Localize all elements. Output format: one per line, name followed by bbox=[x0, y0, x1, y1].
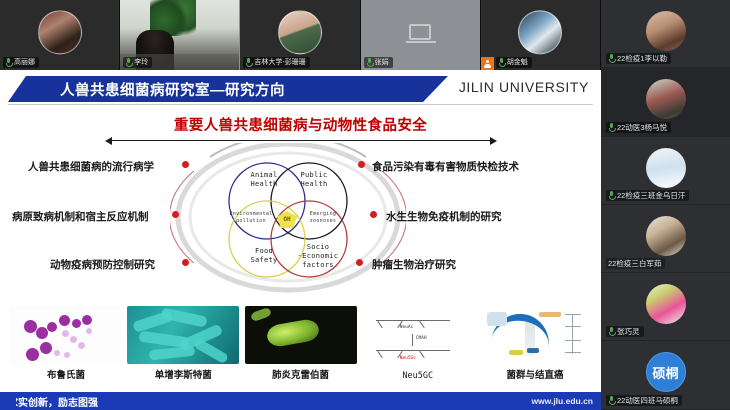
thumbnail-caption: Neu5GC bbox=[362, 371, 474, 381]
camera-off-icon bbox=[409, 24, 431, 40]
participant-name: 22检疫三白军茹 bbox=[608, 259, 661, 268]
participant-rail-item[interactable]: 张巧灵 bbox=[601, 273, 730, 341]
participant-rail-item[interactable]: 硕桐 22动医四班马硕桐 bbox=[601, 341, 730, 409]
video-tile-active-speaker[interactable]: 李玲 bbox=[120, 0, 240, 70]
participant-rail-item[interactable]: 22检疫三班金乌日汗 bbox=[601, 137, 730, 205]
avatar-initials-text: 硕桐 bbox=[652, 363, 678, 382]
slide-footer: 求实创新，励志图强 www.jlu.edu.cn bbox=[0, 392, 601, 410]
participant-name: 胡金魁 bbox=[507, 58, 528, 67]
participant-name: 高丽娜 bbox=[14, 58, 35, 67]
thumbnail-caption: 单增李斯特菌 bbox=[127, 367, 239, 381]
participant-name: 22动医四班马硕桐 bbox=[617, 396, 678, 405]
avatar-initials: 硕桐 bbox=[646, 352, 686, 392]
direction-label-right-1: 食品污染有毒有害物质快检技术 bbox=[372, 159, 519, 174]
direction-label-left-3: 动物疫病预防控制研究 bbox=[50, 257, 155, 272]
avatar bbox=[646, 79, 686, 119]
microphone-icon bbox=[608, 327, 615, 336]
avatar bbox=[278, 10, 322, 54]
name-badge: 22检疫1李以勒 bbox=[606, 53, 671, 64]
slide-title: 人兽共患细菌病研究室—研究方向 bbox=[60, 79, 285, 100]
video-tile-sharing[interactable]: 胡金魁 bbox=[481, 0, 601, 70]
microphone-icon bbox=[608, 123, 615, 132]
thumbnail-cell: 布鲁氏菌 bbox=[10, 306, 122, 381]
video-tile-strip: 高丽娜 李玲 吉林大学-彭珊珊 张娟 bbox=[0, 0, 601, 70]
name-badge: 22检疫三班金乌日汗 bbox=[606, 190, 689, 201]
slide-header: 人兽共患细菌病研究室—研究方向 JILIN UNIVERSITY bbox=[8, 76, 593, 110]
microphone-icon bbox=[125, 58, 132, 67]
direction-dot-left-1 bbox=[182, 161, 189, 168]
rule-bar bbox=[111, 140, 491, 141]
name-badge: 吉林大学-彭珊珊 bbox=[243, 57, 309, 68]
avatar bbox=[646, 216, 686, 256]
screen-share-icon bbox=[481, 57, 494, 70]
listeria-image bbox=[127, 306, 239, 364]
venn-center-label: OH bbox=[283, 216, 290, 223]
video-tile-camera-off[interactable]: 张娟 bbox=[361, 0, 481, 70]
thumbnail-cell: NeuAc CMAH Neu5Gc Neu5GC bbox=[362, 310, 474, 381]
klebsiella-image bbox=[245, 306, 357, 364]
thumbnail-cell: 肺炎克雷伯菌 bbox=[245, 306, 357, 381]
microphone-icon bbox=[245, 58, 252, 67]
microphone-icon bbox=[608, 191, 615, 200]
name-badge: 22检疫三白军茹 bbox=[606, 258, 665, 269]
participant-name: 22动医3杨马悦 bbox=[617, 123, 667, 132]
thumbnail-caption: 肺炎克雷伯菌 bbox=[245, 367, 357, 381]
name-badge: 高丽娜 bbox=[3, 57, 39, 68]
taskbar-accent bbox=[0, 394, 16, 410]
thumbnail-row: 布鲁氏菌 单增李斯特菌 肺炎克雷伯菌 bbox=[10, 306, 591, 381]
presenter-glyph bbox=[484, 60, 491, 68]
shared-screen-slide[interactable]: 人兽共患细菌病研究室—研究方向 JILIN UNIVERSITY 重要人兽共患细… bbox=[0, 70, 601, 410]
slide-title-band: 人兽共患细菌病研究室—研究方向 bbox=[8, 76, 448, 102]
name-badge: 李玲 bbox=[123, 57, 152, 68]
thumbnail-cell: 菌群与结直癌 bbox=[479, 306, 591, 381]
name-badge: 胡金魁 bbox=[496, 57, 532, 68]
direction-dot-left-2 bbox=[172, 211, 179, 218]
direction-label-right-2: 水生生物免疫机制的研究 bbox=[386, 209, 502, 224]
participant-name: 22检疫1李以勒 bbox=[617, 54, 667, 63]
name-badge: 22动医3杨马悦 bbox=[606, 122, 671, 133]
venn-label-socio-economic: Socio -Economic factors bbox=[285, 243, 351, 270]
chem-label-top: NeuAc bbox=[400, 325, 414, 330]
footer-slogan: 求实创新，励志图强 bbox=[8, 394, 98, 409]
microphone-icon bbox=[608, 396, 615, 405]
venn-label-public-health: Public Health bbox=[283, 171, 345, 189]
thumbnail-cell: 单增李斯特菌 bbox=[127, 306, 239, 381]
participant-name: 张娟 bbox=[375, 58, 389, 67]
participant-rail-item[interactable]: 22检疫1李以勒 bbox=[601, 0, 730, 68]
video-tile[interactable]: 高丽娜 bbox=[0, 0, 120, 70]
neu5gc-structure-image: NeuAc CMAH Neu5Gc bbox=[362, 310, 474, 368]
participant-rail-item[interactable]: 22检疫三白军茹 bbox=[601, 205, 730, 273]
participant-name: 22检疫三班金乌日汗 bbox=[617, 191, 685, 200]
name-badge: 22动医四班马硕桐 bbox=[606, 395, 682, 406]
brucella-image bbox=[10, 306, 122, 364]
avatar bbox=[646, 284, 686, 324]
avatar bbox=[646, 148, 686, 188]
research-directions-diagram: 人兽共患细菌病的流行病学 病原致病机制和宿主反应机制 动物疫病预防控制研究 食品… bbox=[0, 147, 601, 297]
direction-dot-right-2 bbox=[370, 211, 377, 218]
thumbnail-caption: 菌群与结直癌 bbox=[479, 367, 591, 381]
participant-name: 吉林大学-彭珊珊 bbox=[254, 58, 305, 67]
direction-label-left-2: 病原致病机制和宿主反应机制 bbox=[12, 209, 149, 224]
avatar bbox=[518, 10, 562, 54]
microphone-icon bbox=[5, 58, 12, 67]
thumbnail-caption: 布鲁氏菌 bbox=[10, 367, 122, 381]
university-wordmark: JILIN UNIVERSITY bbox=[459, 79, 589, 95]
direction-dot-left-3 bbox=[182, 259, 189, 266]
participant-name: 李玲 bbox=[134, 58, 148, 67]
footer-url: www.jlu.edu.cn bbox=[531, 396, 593, 406]
name-badge: 张娟 bbox=[364, 57, 393, 68]
avatar bbox=[38, 10, 82, 54]
participant-rail-item[interactable]: 22动医3杨马悦 bbox=[601, 68, 730, 136]
direction-label-right-3: 肿瘤生物治疗研究 bbox=[372, 257, 456, 272]
meeting-window: 高丽娜 李玲 吉林大学-彭珊珊 张娟 bbox=[0, 0, 730, 410]
slide-subtitle-wrap: 重要人兽共患细菌病与动物性食品安全 bbox=[0, 114, 601, 145]
name-badge: 张巧灵 bbox=[606, 326, 644, 337]
slide-subtitle: 重要人兽共患细菌病与动物性食品安全 bbox=[174, 114, 427, 135]
microphone-icon bbox=[498, 58, 505, 67]
microphone-icon bbox=[608, 54, 615, 63]
chem-label-reagent: CMAH bbox=[416, 336, 427, 341]
venn-label-environmental: Environmental pollution bbox=[227, 211, 275, 224]
microphone-icon bbox=[366, 58, 373, 67]
header-divider bbox=[8, 104, 593, 105]
one-health-venn: Animal Health Public Health Food Safety … bbox=[211, 149, 363, 289]
venn-label-emerging: Emerging zoonoses bbox=[299, 211, 347, 224]
chem-label-bottom: Neu5Gc bbox=[400, 356, 416, 361]
video-tile[interactable]: 吉林大学-彭珊珊 bbox=[240, 0, 360, 70]
microbiome-colorectal-cancer-image bbox=[479, 306, 591, 364]
avatar bbox=[646, 11, 686, 51]
participant-name: 张巧灵 bbox=[617, 327, 640, 336]
direction-label-left-1: 人兽共患细菌病的流行病学 bbox=[28, 159, 154, 174]
arrow-right-icon bbox=[490, 137, 497, 145]
participant-rail[interactable]: 22检疫1李以勒 22动医3杨马悦 22检疫三班金乌日汗 22检疫三白军茹 bbox=[601, 0, 730, 410]
